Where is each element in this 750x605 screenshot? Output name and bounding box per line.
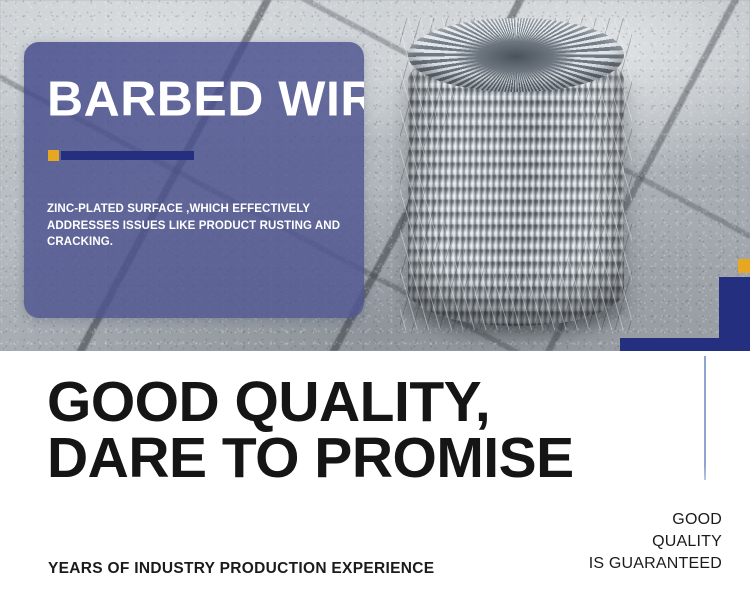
- blue-bracket-horizontal: [620, 338, 750, 351]
- product-description: ZINC-PLATED SURFACE ,WHICH EFFECTIVELY A…: [47, 201, 347, 251]
- product-info-card: BARBED WIRE ZINC-PLATED SURFACE ,WHICH E…: [24, 42, 364, 318]
- experience-subline: YEARS OF INDUSTRY PRODUCTION EXPERIENCE: [48, 560, 434, 578]
- vertical-divider-rule: [704, 356, 706, 480]
- gold-tab-accent: [738, 259, 750, 273]
- gold-square-accent: [48, 150, 59, 161]
- product-title: BARBED WIRE: [47, 76, 364, 125]
- coil-top-opening: [408, 18, 624, 92]
- barbed-wire-coil-image: [400, 18, 632, 330]
- slogan-headline: GOOD QUALITY, DARE TO PROMISE: [47, 374, 574, 486]
- quality-guarantee-text: GOOD QUALITY IS GUARANTEED: [589, 509, 722, 575]
- slogan-panel: GOOD QUALITY, DARE TO PROMISE YEARS OF I…: [0, 351, 750, 605]
- blue-bracket-vertical: [719, 277, 750, 342]
- blue-bar-accent: [61, 151, 194, 160]
- product-banner: BARBED WIRE ZINC-PLATED SURFACE ,WHICH E…: [0, 0, 750, 605]
- title-divider: [48, 150, 194, 161]
- hero-photo: BARBED WIRE ZINC-PLATED SURFACE ,WHICH E…: [0, 0, 750, 351]
